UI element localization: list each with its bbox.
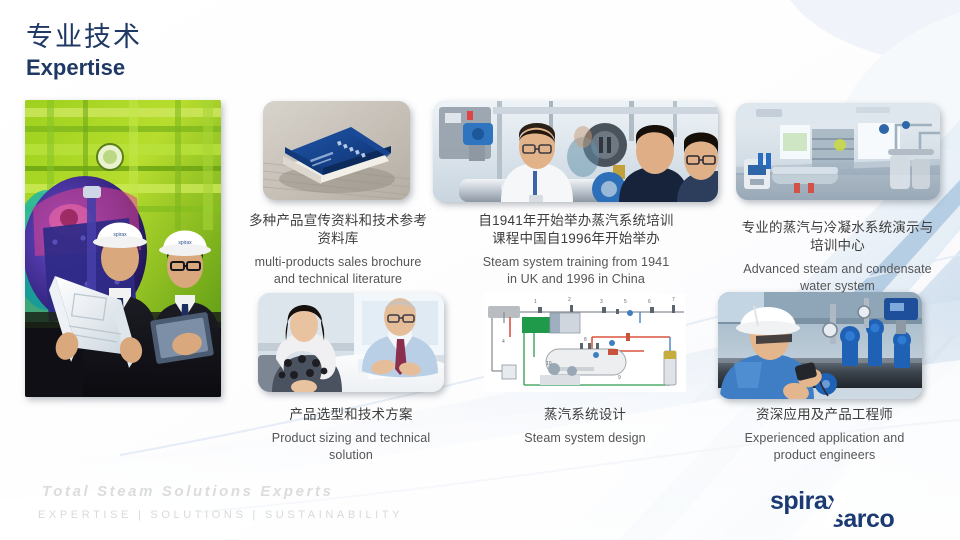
svg-text:3: 3	[600, 299, 603, 305]
svg-text:5: 5	[624, 299, 627, 305]
svg-text:10: 10	[546, 361, 552, 367]
svg-text:6: 6	[648, 299, 651, 305]
caption-brochure: 多种产品宣传资料和技术参考资料库 multi-products sales br…	[248, 212, 428, 288]
thumb-engineers	[718, 292, 922, 399]
thumb-system-design: 12 35 67 48 910	[484, 293, 686, 392]
footer-pillar-solutions: SOLUTIONS	[150, 509, 246, 521]
footer-separator-2: |	[246, 509, 264, 521]
svg-text:4: 4	[502, 339, 505, 345]
caption-product-sizing-en: Product sizing and technical solution	[258, 430, 444, 464]
page-title-en: Expertise	[26, 55, 142, 81]
brochure-book-art	[263, 101, 410, 200]
thumb-brochure	[263, 101, 410, 200]
svg-text:1: 1	[534, 299, 537, 305]
hero-photo-inner: spirax spirax	[25, 100, 221, 397]
svg-text:2: 2	[568, 297, 571, 303]
caption-brochure-en: multi-products sales brochure and techni…	[248, 254, 428, 288]
thumb-brochure-inner	[263, 101, 410, 200]
svg-text:7: 7	[672, 297, 675, 303]
footer-separator-1: |	[132, 509, 150, 521]
footer-tagline: Total Steam Solutions Experts	[42, 483, 334, 500]
thumb-demo-centre	[736, 103, 940, 200]
steam-system-schematic-art: 12 35 67 48 910	[484, 293, 686, 392]
thumb-product-sizing	[258, 293, 444, 392]
caption-system-design-cn: 蒸汽系统设计	[490, 406, 680, 424]
thumb-product-sizing-inner	[258, 293, 444, 392]
caption-training-cn: 自1941年开始举办蒸汽系统培训课程中国自1996年开始举办	[478, 212, 674, 248]
caption-brochure-cn: 多种产品宣传资料和技术参考资料库	[248, 212, 428, 248]
meeting-consultation-art	[258, 293, 444, 392]
spirax-sarco-logo: spirax sarco	[770, 489, 945, 531]
page-title: 专业技术 Expertise	[26, 22, 142, 81]
spirax-sarco-logo-art: spirax sarco	[770, 489, 945, 531]
svg-text:8: 8	[584, 337, 587, 343]
caption-training: 自1941年开始举办蒸汽系统培训课程中国自1996年开始举办 Steam sys…	[478, 212, 674, 288]
thumb-training-inner	[433, 101, 718, 202]
engineer-valves-art	[718, 292, 922, 399]
caption-engineers: 资深应用及产品工程师 Experienced application and p…	[727, 406, 922, 464]
thumb-system-design-inner: 12 35 67 48 910	[484, 293, 686, 392]
thumb-training	[433, 101, 718, 202]
svg-text:9: 9	[618, 375, 621, 381]
caption-demo-centre: 专业的蒸汽与冷凝水系统演示与培训中心 Advanced steam and co…	[735, 219, 940, 295]
slide-canvas: 专业技术 Expertise	[0, 0, 960, 540]
caption-demo-centre-en: Advanced steam and condensate water syst…	[735, 261, 940, 295]
caption-system-design: 蒸汽系统设计 Steam system design	[490, 406, 680, 447]
caption-system-design-en: Steam system design	[490, 430, 680, 447]
caption-demo-centre-cn: 专业的蒸汽与冷凝水系统演示与培训中心	[735, 219, 940, 255]
footer-pillars: EXPERTISE|SOLUTIONS|SUSTAINABILITY	[38, 509, 403, 521]
hero-photo: spirax spirax	[25, 100, 221, 397]
caption-engineers-cn: 资深应用及产品工程师	[727, 406, 922, 424]
footer-pillar-expertise: EXPERTISE	[38, 509, 132, 521]
svg-text:spirax: spirax	[178, 240, 192, 246]
footer-pillar-sustainability: SUSTAINABILITY	[265, 509, 403, 521]
caption-product-sizing: 产品选型和技术方案 Product sizing and technical s…	[258, 406, 444, 464]
caption-training-en: Steam system training from 1941 in UK an…	[478, 254, 674, 288]
caption-product-sizing-cn: 产品选型和技术方案	[258, 406, 444, 424]
thumb-demo-centre-inner	[736, 103, 940, 200]
page-title-cn: 专业技术	[26, 22, 142, 53]
training-course-art	[433, 101, 718, 202]
demo-centre-art	[736, 103, 940, 200]
caption-engineers-en: Experienced application and product engi…	[727, 430, 922, 464]
svg-text:spirax: spirax	[113, 232, 127, 238]
thumb-engineers-inner	[718, 292, 922, 399]
engineers-photo-art: spirax spirax	[25, 100, 221, 397]
